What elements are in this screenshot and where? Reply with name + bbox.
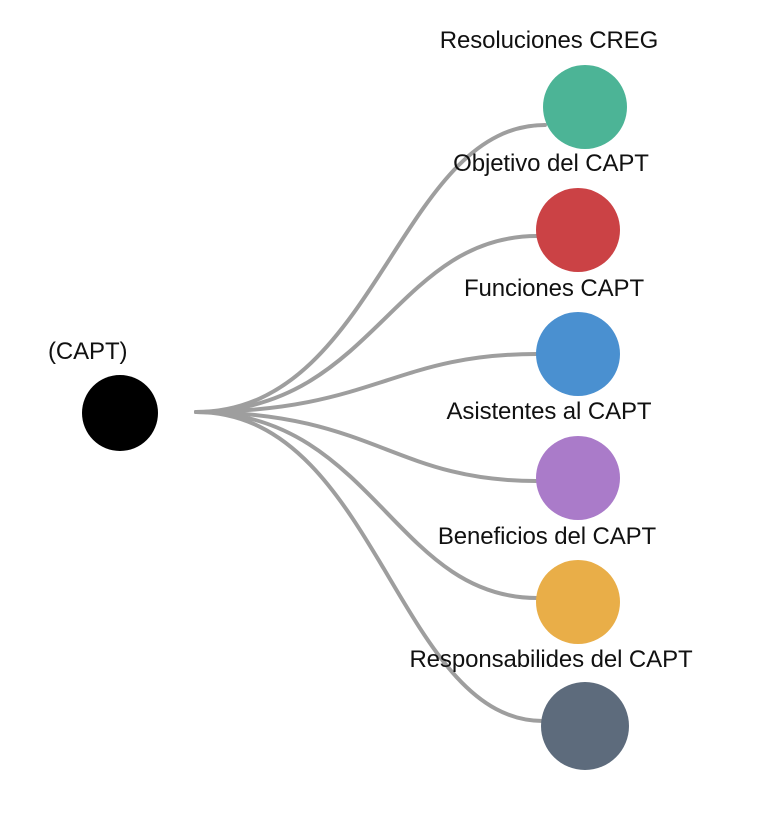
node-circle-3[interactable] [536,436,620,520]
node-label-2: Funciones CAPT [464,277,644,301]
node-label-0: Resoluciones CREG [440,29,658,53]
node-circle-1[interactable] [536,188,620,272]
node-label-1: Objetivo del CAPT [453,152,649,176]
node-circle-4[interactable] [536,560,620,644]
node-label-5: Responsabilides del CAPT [409,648,692,672]
edge-root-to-child-5 [196,412,543,721]
node-label-4: Beneficios del CAPT [438,525,656,549]
diagram-canvas: (CAPT) Resoluciones CREGObjetivo del CAP… [0,0,768,813]
node-circle-5[interactable] [541,682,629,770]
node-circle-0[interactable] [543,65,627,149]
node-circle-2[interactable] [536,312,620,396]
root-node-label: (CAPT) [48,340,127,364]
graph-svg [0,0,768,813]
node-label-3: Asistentes al CAPT [447,400,652,424]
root-node-circle[interactable] [82,375,158,451]
